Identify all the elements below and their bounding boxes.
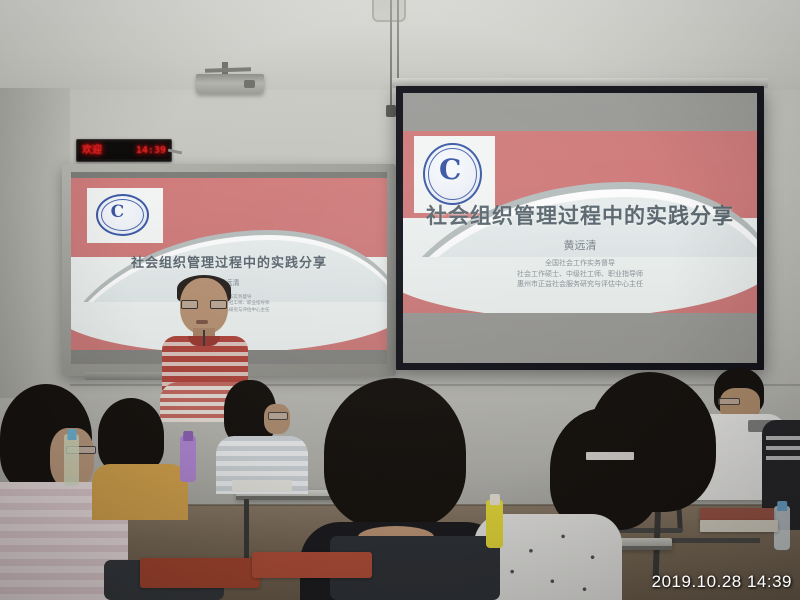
slide-large: C 社会组织管理过程中的实践分享 黄远清 全国社会工作实务督导 社会工作硕士、中…: [403, 131, 757, 313]
wall-left-return: [0, 88, 70, 398]
projection-surface: C 社会组织管理过程中的实践分享 黄远清 全国社会工作实务督导 社会工作硕士、中…: [403, 93, 757, 363]
whiteboard-pen-tray: [84, 372, 164, 380]
water-bottle: [64, 434, 79, 486]
audience-member: [92, 398, 188, 518]
projector-lens-icon: [244, 80, 255, 88]
ceiling-fixture: [372, 0, 406, 22]
paper-sheet: [586, 452, 634, 460]
cord-clip: [386, 105, 396, 117]
slide-title-large: 社会组织管理过程中的实践分享: [403, 200, 757, 230]
book: [700, 520, 778, 532]
presenter-glasses-icon: [181, 300, 227, 309]
slide-logo-plate-small: C: [87, 188, 163, 243]
glasses-icon: [718, 398, 740, 405]
juice-bottle: [486, 500, 503, 548]
screen-letterbox-bottom: [403, 313, 757, 363]
audience-member: [216, 380, 298, 490]
organization-logo-icon-large: C: [423, 143, 482, 206]
red-notebook: [252, 552, 372, 578]
screen-letterbox-top: [403, 93, 757, 131]
slide-title-small: 社会组织管理过程中的实践分享: [71, 252, 387, 271]
ceiling-projector: [196, 74, 264, 94]
desk-leg: [244, 499, 249, 559]
classroom-photo: 欢迎 14:39 C 社会组织管理过程中的实践分享: [0, 0, 800, 600]
slide-credits-large: 全国社会工作实务督导 社会工作硕士、中级社工师、职业指导师 惠州市正益社会服务研…: [403, 258, 757, 288]
camera-timestamp: 2019.10.28 14:39: [652, 572, 792, 592]
glasses-icon: [268, 412, 288, 420]
purple-bottle: [180, 436, 196, 482]
presenter-mouth: [196, 320, 208, 324]
paper-sheet: [232, 480, 292, 492]
projection-screen: C 社会组织管理过程中的实践分享 黄远清 全国社会工作实务督导 社会工作硕士、中…: [396, 86, 764, 370]
led-sign-text: 欢迎: [82, 146, 102, 156]
organization-logo-icon: C: [96, 194, 149, 236]
screen-pull-cord[interactable]: [390, 0, 392, 110]
audience-member: [588, 372, 718, 522]
red-notebook: [140, 558, 260, 588]
slide-author-large: 黄远清: [403, 237, 757, 253]
led-marquee-sign: 欢迎 14:39: [76, 139, 172, 162]
presenter-microphone: [203, 330, 205, 346]
led-sign-time: 14:39: [136, 146, 166, 156]
